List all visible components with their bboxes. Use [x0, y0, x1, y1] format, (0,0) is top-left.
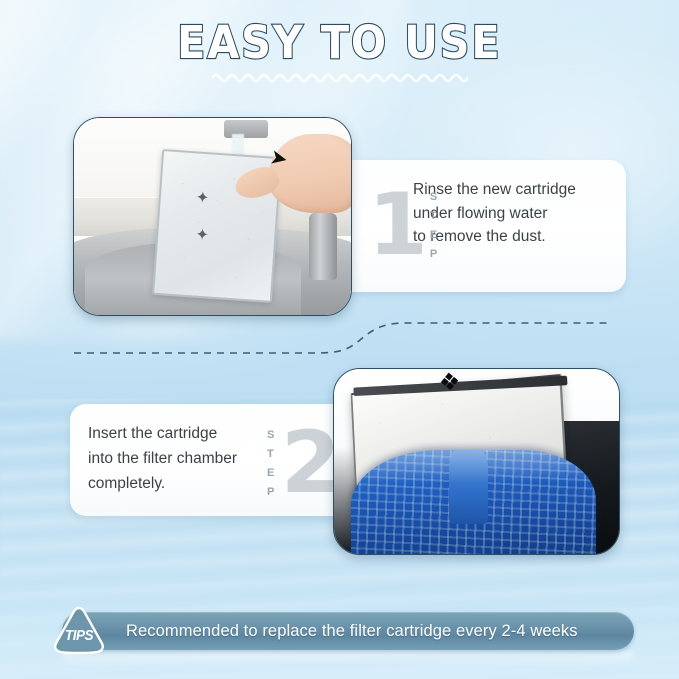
step-letter: S	[430, 188, 438, 207]
step-2-number: 2	[281, 427, 339, 501]
step-1-number: 1	[368, 189, 426, 263]
arrow-icon: ➤	[268, 146, 290, 170]
step-1-step-word: S T E P	[430, 188, 438, 265]
faucet-body	[309, 213, 337, 280]
step-1-description: Rinse the new cartridge under flowing wa…	[413, 178, 623, 249]
tips-message: Recommended to replace the filter cartri…	[126, 622, 578, 641]
step-1-line-3: to remove the dust.	[413, 225, 623, 249]
step-letter: E	[430, 226, 438, 245]
step-letter: P	[430, 245, 438, 264]
step-1-line-2: under flowing water	[413, 202, 623, 226]
step-2-line-2: into the filter chamber	[88, 446, 283, 471]
step-2-line-1: Insert the cartridge	[88, 421, 283, 446]
basket-highlight	[351, 450, 596, 482]
step-letter: S	[267, 426, 275, 445]
step-2-photo: ❖	[333, 368, 620, 555]
poster-title-block: EASY TO USE	[0, 20, 679, 65]
sink-scene: ✦ ✦ ➤	[74, 118, 351, 315]
step-letter: E	[267, 464, 275, 483]
hand	[268, 134, 352, 213]
poster-title: EASY TO USE	[177, 20, 501, 65]
step-1-line-1: Rinse the new cartridge	[413, 178, 623, 202]
leaf-icon: ✦	[195, 228, 209, 245]
blue-filter-basket	[351, 450, 596, 555]
tap-head	[224, 120, 268, 138]
step-1-photo: ✦ ✦ ➤	[73, 117, 352, 316]
step-1-marker: 1 S T E P	[368, 176, 428, 276]
tips-triangle-icon	[50, 604, 108, 658]
dashed-connector-line	[60, 310, 620, 370]
step-letter: P	[267, 483, 275, 502]
tips-badge: TIPS	[50, 604, 108, 658]
product-infographic-poster: EASY TO USE 1 S T E P Rinse the new cart…	[0, 0, 679, 679]
step-2-line-3: completely.	[88, 471, 283, 496]
step-2-description: Insert the cartridge into the filter cha…	[88, 421, 283, 496]
leaf-icon: ✦	[195, 191, 209, 208]
whale-tail-icon: ❖	[438, 370, 462, 396]
tips-bar-reflection	[62, 651, 634, 667]
tips-bar: Recommended to replace the filter cartri…	[62, 612, 634, 650]
filter-chamber-scene: ❖	[334, 369, 619, 554]
step-2-step-word: S T E P	[267, 426, 275, 503]
step-letter: T	[430, 207, 438, 226]
step-letter: T	[267, 445, 275, 464]
title-wave-underline	[212, 70, 468, 84]
